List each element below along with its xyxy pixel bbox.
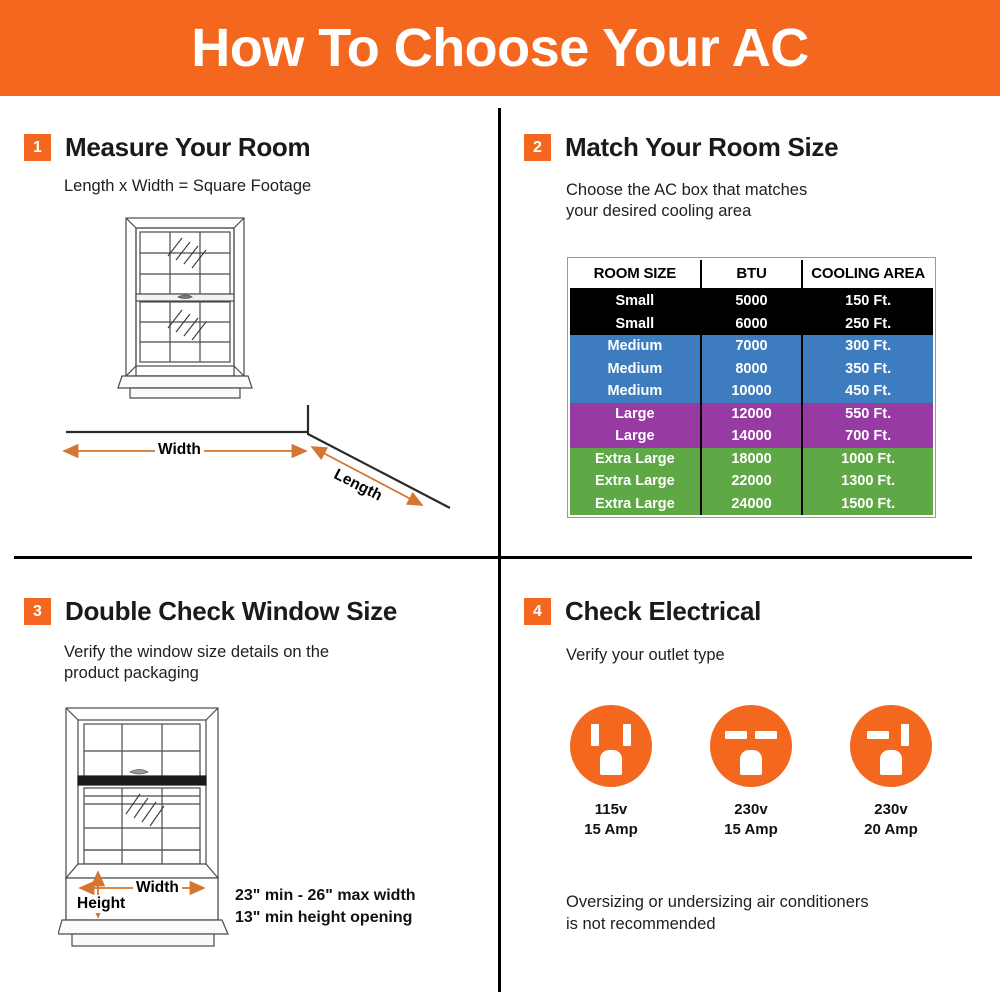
section-3-heading: 3 Double Check Window Size (24, 596, 397, 627)
section-2-heading: 2 Match Your Room Size (524, 132, 838, 163)
cell-cooling-area: 300 Ft. (802, 335, 933, 358)
vertical-divider (498, 108, 501, 992)
room-width-label: Width (155, 441, 204, 459)
table-row: Small6000250 Ft. (570, 313, 933, 336)
section-4: 4 Check Electrical (524, 596, 761, 627)
section-2-subtitle: Choose the AC box that matches your desi… (566, 180, 807, 222)
cell-cooling-area: 1000 Ft. (802, 448, 933, 471)
window-size-specs: 23" min - 26" max width 13" min height o… (235, 885, 416, 930)
cell-btu: 24000 (701, 493, 803, 516)
outlet-slot-right (623, 724, 631, 746)
section-1-subtitle: Length x Width = Square Footage (64, 176, 311, 197)
section-4-badge: 4 (524, 598, 551, 625)
section-4-subtitle: Verify your outlet type (566, 645, 725, 666)
cell-btu: 10000 (701, 380, 803, 403)
header-btu: BTU (701, 260, 803, 289)
cell-room-size: Extra Large (570, 493, 701, 516)
outlet-icon (850, 705, 932, 787)
table-row: Large12000550 Ft. (570, 403, 933, 426)
cell-room-size: Extra Large (570, 448, 701, 471)
cell-room-size: Small (570, 313, 701, 336)
outlet-label: 115v 15 Amp (584, 800, 638, 840)
cell-btu: 6000 (701, 313, 803, 336)
window-height-label: Height (74, 895, 128, 913)
table-row: Extra Large180001000 Ft. (570, 448, 933, 471)
table-row: Large14000700 Ft. (570, 425, 933, 448)
outlet-ground-pin (600, 750, 622, 775)
cell-btu: 7000 (701, 335, 803, 358)
outlet-icon (570, 705, 652, 787)
cell-cooling-area: 150 Ft. (802, 289, 933, 313)
section-3-subtitle: Verify the window size details on the pr… (64, 642, 329, 684)
horizontal-divider (14, 556, 972, 559)
cell-cooling-area: 550 Ft. (802, 403, 933, 426)
section-1-heading: 1 Measure Your Room (24, 132, 310, 163)
outlet-230v-20amp: 230v 20 Amp (836, 705, 946, 840)
cell-room-size: Medium (570, 358, 701, 381)
cell-btu: 22000 (701, 470, 803, 493)
section-3-title: Double Check Window Size (65, 596, 397, 627)
outlet-115v-15amp: 115v 15 Amp (556, 705, 666, 840)
table-row: Medium10000450 Ft. (570, 380, 933, 403)
cell-room-size: Medium (570, 380, 701, 403)
page-header: How To Choose Your AC (0, 0, 1000, 96)
table-row: Small5000150 Ft. (570, 289, 933, 313)
cell-room-size: Small (570, 289, 701, 313)
outlet-type-list: 115v 15 Amp 230v 15 Amp 230v 20 Amp (556, 705, 946, 840)
infographic-page: How To Choose Your AC 1 Measure Your Roo… (0, 0, 1000, 1000)
outlet-slot-right (901, 724, 909, 746)
cell-cooling-area: 350 Ft. (802, 358, 933, 381)
cell-room-size: Large (570, 403, 701, 426)
outlet-230v-15amp: 230v 15 Amp (696, 705, 806, 840)
section-1: 1 Measure Your Room (24, 132, 310, 163)
cell-btu: 18000 (701, 448, 803, 471)
outlet-label: 230v 20 Amp (864, 800, 918, 840)
room-corner-diagram (50, 405, 480, 535)
cell-room-size: Medium (570, 335, 701, 358)
btu-table-container: ROOM SIZE BTU COOLING AREA Small5000150 … (567, 257, 936, 518)
section-2-title: Match Your Room Size (565, 132, 838, 163)
header-room-size: ROOM SIZE (570, 260, 701, 289)
electrical-note: Oversizing or undersizing air conditione… (566, 892, 869, 936)
outlet-slot-right (755, 731, 777, 739)
section-3: 3 Double Check Window Size (24, 596, 397, 627)
section-1-title: Measure Your Room (65, 132, 310, 163)
window-width-label: Width (133, 879, 182, 897)
outlet-ground-pin (880, 750, 902, 775)
cell-cooling-area: 450 Ft. (802, 380, 933, 403)
cell-room-size: Extra Large (570, 470, 701, 493)
table-row: Extra Large240001500 Ft. (570, 493, 933, 516)
section-4-heading: 4 Check Electrical (524, 596, 761, 627)
section-2: 2 Match Your Room Size (524, 132, 838, 163)
cell-cooling-area: 1300 Ft. (802, 470, 933, 493)
cell-cooling-area: 250 Ft. (802, 313, 933, 336)
table-row: Medium7000300 Ft. (570, 335, 933, 358)
btu-table-header-row: ROOM SIZE BTU COOLING AREA (570, 260, 933, 289)
cell-btu: 8000 (701, 358, 803, 381)
table-row: Extra Large220001300 Ft. (570, 470, 933, 493)
cell-cooling-area: 1500 Ft. (802, 493, 933, 516)
header-cooling-area: COOLING AREA (802, 260, 933, 289)
cell-cooling-area: 700 Ft. (802, 425, 933, 448)
page-title: How To Choose Your AC (191, 21, 809, 75)
table-row: Medium8000350 Ft. (570, 358, 933, 381)
outlet-slot-left (867, 731, 889, 739)
section-3-badge: 3 (24, 598, 51, 625)
outlet-slot-left (591, 724, 599, 746)
section-4-title: Check Electrical (565, 596, 761, 627)
cell-room-size: Large (570, 425, 701, 448)
outlet-ground-pin (740, 750, 762, 775)
section-2-badge: 2 (524, 134, 551, 161)
outlet-slot-left (725, 731, 747, 739)
cell-btu: 12000 (701, 403, 803, 426)
section-1-badge: 1 (24, 134, 51, 161)
cell-btu: 5000 (701, 289, 803, 313)
btu-table: ROOM SIZE BTU COOLING AREA Small5000150 … (570, 260, 933, 515)
outlet-label: 230v 15 Amp (724, 800, 778, 840)
outlet-icon (710, 705, 792, 787)
cell-btu: 14000 (701, 425, 803, 448)
window-illustration-room (116, 212, 256, 412)
